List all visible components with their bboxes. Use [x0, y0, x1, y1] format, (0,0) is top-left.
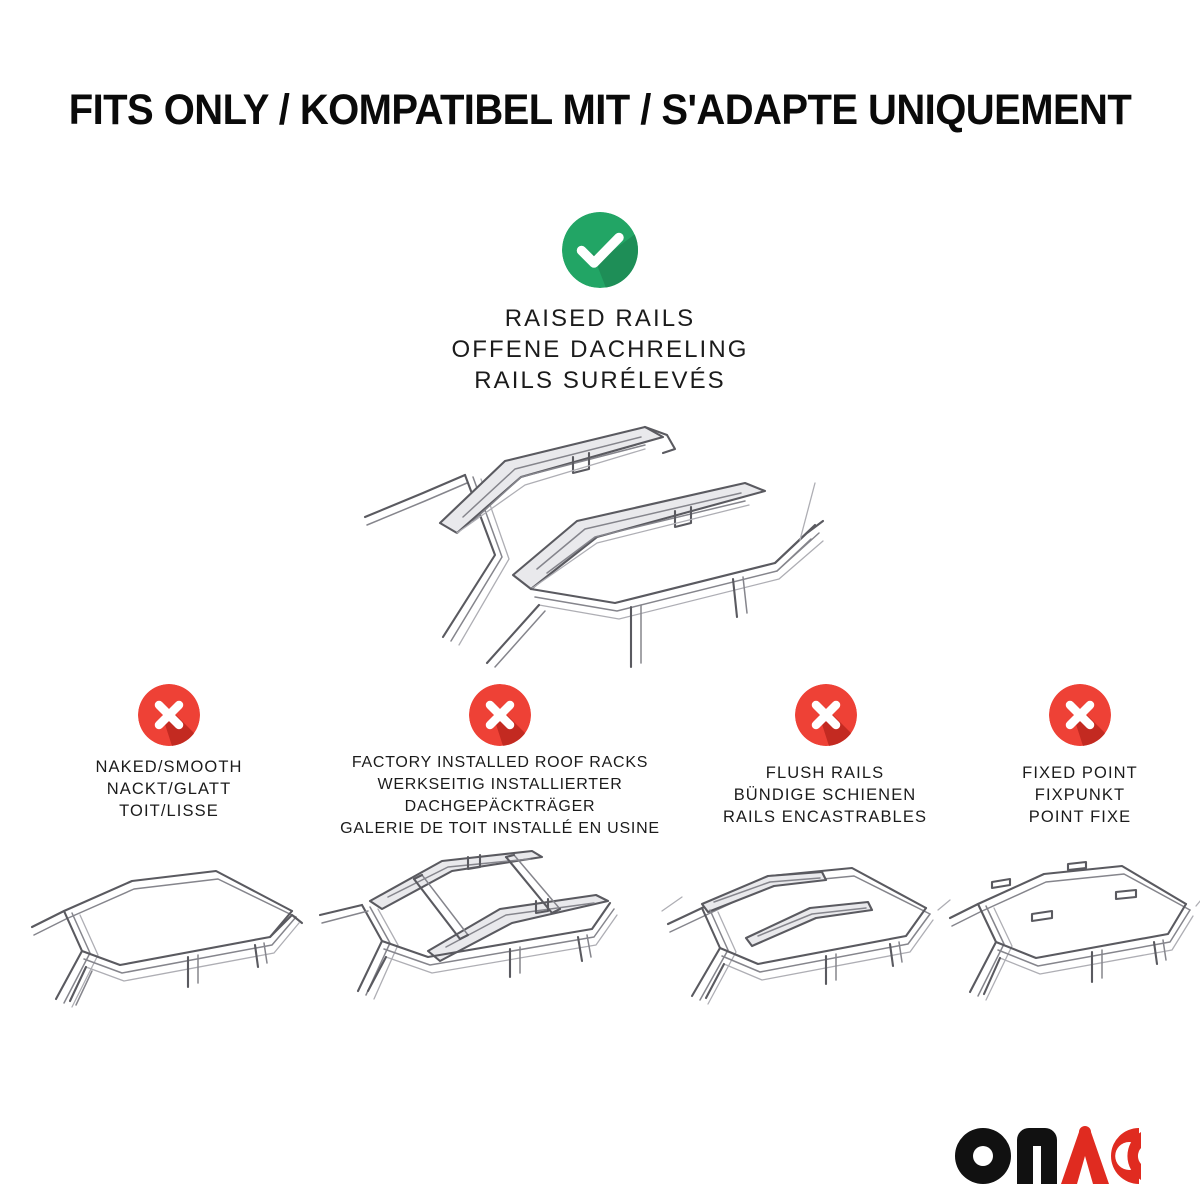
label-line: FIXPUNKT	[955, 784, 1200, 806]
label-line: GALERIE DE TOIT INSTALLÉ EN USINE	[300, 818, 700, 840]
label-line: POINT FIXE	[955, 806, 1200, 828]
compatible-line-1: RAISED RAILS	[300, 303, 900, 334]
omac-logo	[953, 1126, 1141, 1188]
compatible-line-3: RAILS SURÉLEVÉS	[300, 365, 900, 396]
car-roof-naked-smooth-illustration	[20, 855, 315, 1050]
car-roof-factory-installed-rack-illustration	[310, 843, 690, 1043]
car-roof-fixed-point-illustration	[940, 852, 1200, 1047]
label-line: BÜNDIGE SCHIENEN	[700, 784, 950, 806]
label-line: FACTORY INSTALLED ROOF RACKS	[300, 752, 700, 774]
x-circle-icon	[1049, 684, 1111, 746]
compatible-heading: RAISED RAILS OFFENE DACHRELING RAILS SUR…	[300, 303, 900, 396]
check-circle-icon	[562, 212, 638, 288]
compatible-line-2: OFFENE DACHRELING	[300, 334, 900, 365]
label-line: RAILS ENCASTRABLES	[700, 806, 950, 828]
page-title: FITS ONLY / KOMPATIBEL MIT / S'ADAPTE UN…	[42, 86, 1158, 135]
incompatible-label-flush-rails: FLUSH RAILS BÜNDIGE SCHIENEN RAILS ENCAS…	[700, 762, 950, 828]
label-line: FIXED POINT	[955, 762, 1200, 784]
car-roof-flush-rails-illustration	[650, 852, 955, 1047]
car-roof-with-raised-rails-illustration	[345, 405, 865, 675]
label-line: NACKT/GLATT	[44, 778, 294, 800]
incompatible-label-factory-rack: FACTORY INSTALLED ROOF RACKS WERKSEITIG …	[300, 752, 700, 840]
label-line: NAKED/SMOOTH	[44, 756, 294, 778]
compatibility-infographic: FITS ONLY / KOMPATIBEL MIT / S'ADAPTE UN…	[0, 0, 1200, 1200]
label-line: FLUSH RAILS	[700, 762, 950, 784]
incompatible-label-fixed-point: FIXED POINT FIXPUNKT POINT FIXE	[955, 762, 1200, 828]
label-line: TOIT/LISSE	[44, 800, 294, 822]
x-circle-icon	[138, 684, 200, 746]
x-circle-icon	[469, 684, 531, 746]
x-circle-icon	[795, 684, 857, 746]
incompatible-label-naked-smooth: NAKED/SMOOTH NACKT/GLATT TOIT/LISSE	[44, 756, 294, 822]
label-line: DACHGEPÄCKTRÄGER	[300, 796, 700, 818]
label-line: WERKSEITIG INSTALLIERTER	[300, 774, 700, 796]
